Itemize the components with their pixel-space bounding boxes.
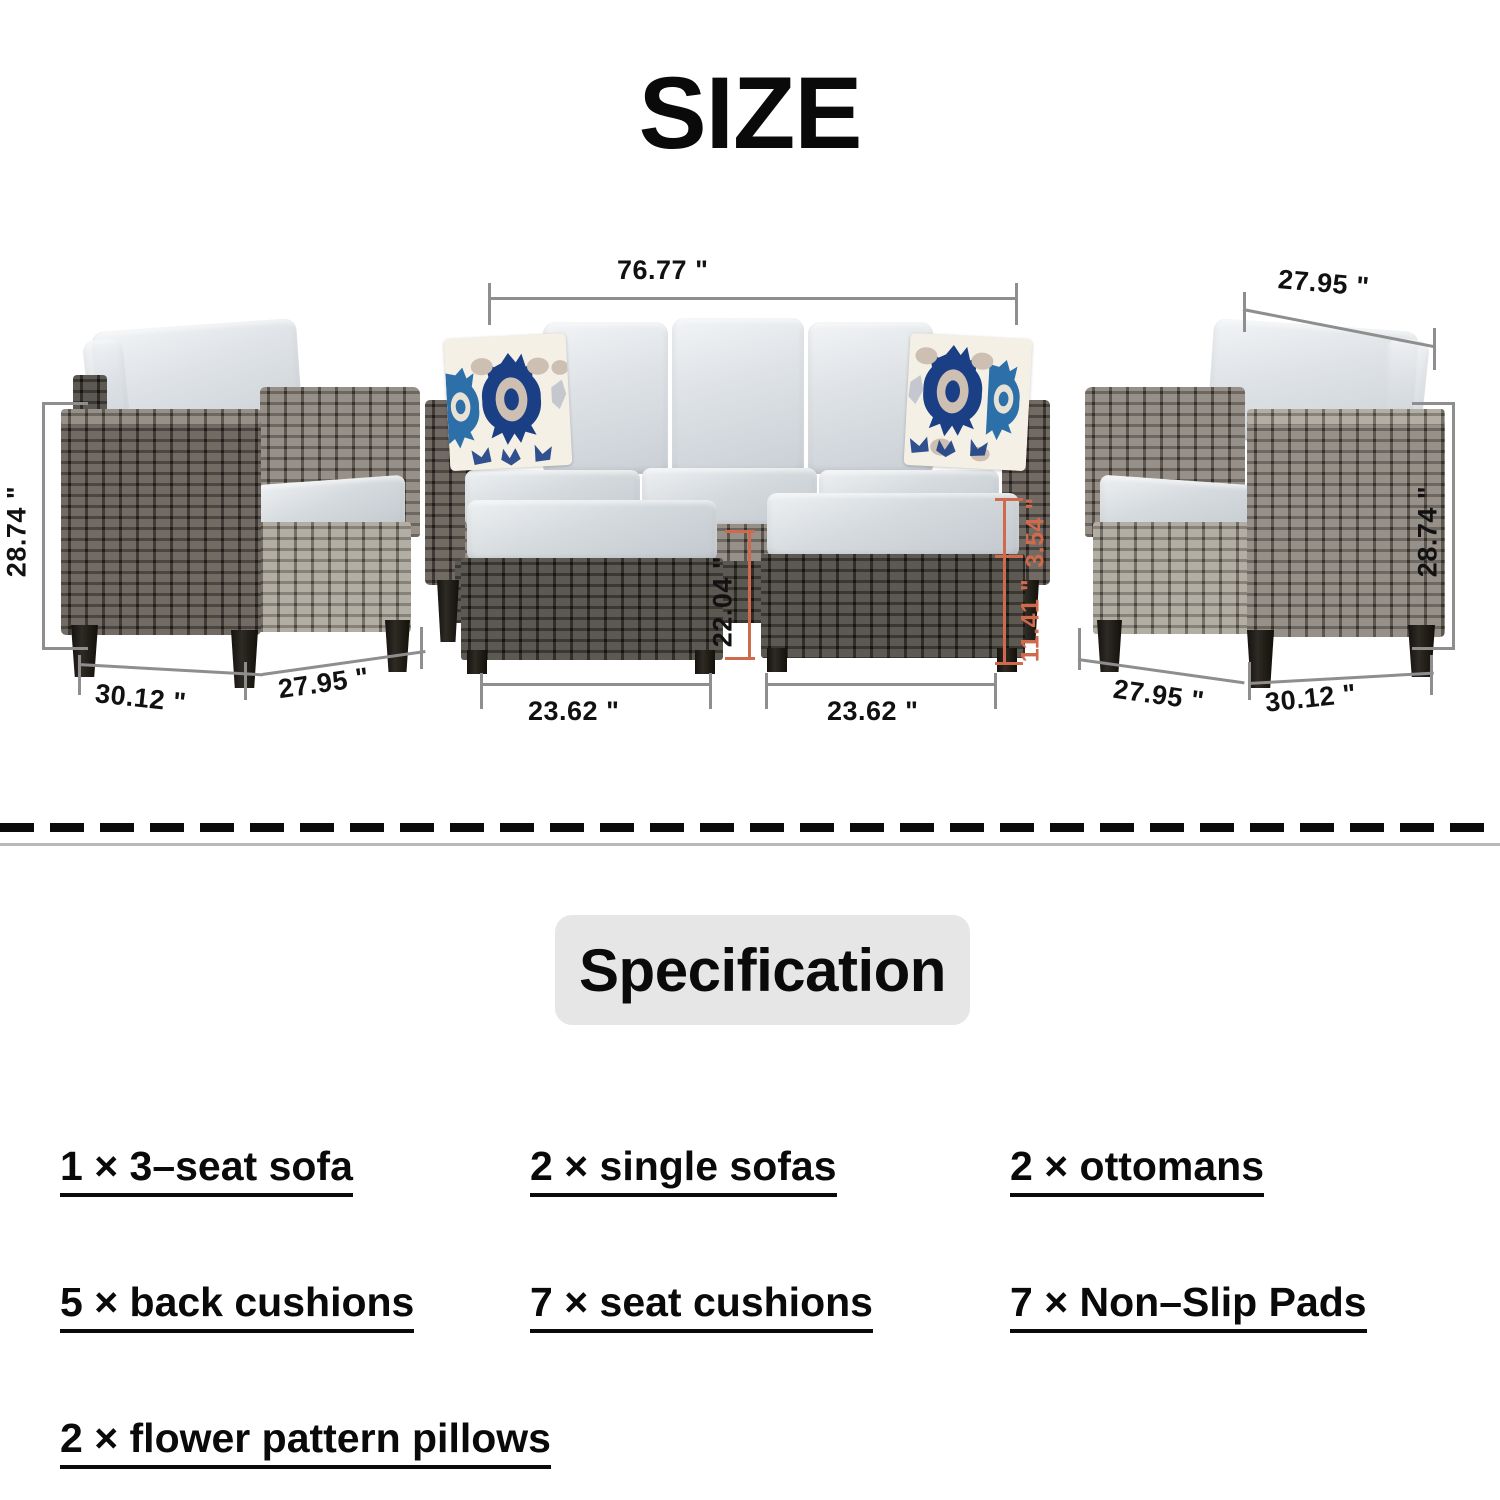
dim-cap-ottoman-left-width-left: [480, 673, 483, 709]
dim-cap-right-chair-depth-left: [1078, 628, 1081, 670]
dim-label-left-chair-width: 30.12 ": [94, 680, 188, 716]
dim-cap-ottoman-right-width-left: [765, 673, 768, 709]
specification-list: 1 × 3–seat sofa 2 × single sofas 2 × ott…: [60, 1145, 1460, 1469]
dim-line-ottoman-base-height: [1003, 555, 1006, 665]
spec-item: 2 × flower pattern pillows: [60, 1417, 530, 1469]
left-chair-seat-front: [253, 522, 411, 632]
dim-label-left-chair-height: 28.74 ": [4, 472, 31, 592]
dim-label-ottoman-height: 22.04 ": [710, 542, 737, 662]
ottoman-left: [455, 500, 725, 675]
right-chair-arm-top: [1247, 409, 1445, 425]
left-chair-arm-top: [61, 409, 261, 425]
spec-item: 1 × 3–seat sofa: [60, 1145, 530, 1197]
spec-item-label: 2 × flower pattern pillows: [60, 1417, 551, 1469]
dim-cap-right-chair-width-right: [1430, 655, 1433, 695]
ottoman-left-leg-left: [467, 650, 487, 674]
dim-cap-sofa-width-right: [1015, 283, 1018, 325]
ottoman-right: [755, 493, 1025, 673]
spec-item: 2 × single sofas: [530, 1145, 1010, 1197]
spec-item: 7 × seat cushions: [530, 1281, 1010, 1333]
dim-cap-left-chair-height-top: [42, 402, 88, 405]
left-chair-leg-front: [71, 625, 98, 677]
furniture-diagram: 28.74 " 30.12 " 27.95 " 76.77 " 23.62 " …: [0, 230, 1500, 790]
spec-item: 5 × back cushions: [60, 1281, 530, 1333]
dim-label-right-chair-depth: 27.95 ": [1112, 676, 1206, 715]
spec-item: 2 × ottomans: [1010, 1145, 1460, 1197]
right-chair-seat-front: [1093, 522, 1255, 634]
dim-label-right-chair-depth-top: 27.95 ": [1277, 266, 1370, 301]
dim-label-ottoman-base-height: 11.41 ": [1019, 556, 1044, 686]
dim-line-cushion-thickness: [1003, 498, 1006, 558]
dim-cap-ottoman-right-width-right: [994, 673, 997, 709]
specification-heading: Specification: [579, 936, 946, 1005]
dim-cap-ottoman-height-top: [725, 530, 755, 533]
dim-line-right-chair-height: [1452, 402, 1455, 650]
dim-cap-left-chair-width-left: [78, 655, 81, 695]
dim-cap-right-chair-depth-top-left: [1243, 292, 1246, 332]
dim-cap-right-chair-height-bottom: [1412, 647, 1455, 650]
flower-pattern-pillow-left: [444, 333, 573, 471]
page-title: SIZE: [0, 62, 1500, 164]
size-specification-page: SIZE: [0, 0, 1500, 1500]
dim-cap-ottoman-left-width-right: [709, 673, 712, 709]
dim-label-ottoman-left-width: 23.62 ": [528, 698, 619, 725]
spec-item: 7 × Non–Slip Pads: [1010, 1281, 1460, 1333]
dim-label-ottoman-right-width: 23.62 ": [827, 698, 918, 725]
ottoman-left-base: [461, 558, 723, 660]
dim-line-sofa-width: [488, 297, 1018, 300]
dim-label-right-chair-width: 30.12 ": [1264, 680, 1358, 716]
sofa-back-cushion-2: [672, 318, 804, 474]
section-divider-solid: [0, 843, 1500, 846]
dim-cap-right-chair-height-top: [1412, 402, 1455, 405]
dim-cap-sofa-width-left: [488, 283, 491, 325]
left-single-sofa: [55, 325, 430, 665]
dim-cap-left-chair-depth-right: [420, 627, 423, 669]
right-chair-leg-mid: [1247, 630, 1274, 688]
flower-pattern-pillow-right: [904, 333, 1033, 471]
ottoman-left-cushion: [467, 500, 717, 562]
dim-cap-left-chair-height-bottom: [42, 647, 88, 650]
ottoman-right-base: [761, 554, 1025, 658]
left-chair-leg-back: [385, 620, 410, 672]
right-single-sofa: [1075, 325, 1450, 670]
section-divider-dashed: [0, 823, 1500, 832]
spec-item-label: 2 × single sofas: [530, 1145, 837, 1197]
spec-item-label: 5 × back cushions: [60, 1281, 414, 1333]
spec-item-label: 7 × seat cushions: [530, 1281, 873, 1333]
spec-item-label: 2 × ottomans: [1010, 1145, 1264, 1197]
dim-label-right-chair-height: 28.74 ": [1415, 472, 1442, 592]
spec-item-label: 7 × Non–Slip Pads: [1010, 1281, 1367, 1333]
spec-item-label: 1 × 3–seat sofa: [60, 1145, 353, 1197]
left-chair-arm-panel: [61, 413, 261, 635]
dim-cap-cushion-thickness-top: [995, 498, 1023, 501]
ottoman-right-cushion: [767, 493, 1019, 558]
dim-cap-right-chair-depth-top-right: [1433, 328, 1436, 370]
ottoman-right-leg-right: [997, 648, 1017, 672]
specification-heading-badge: Specification: [555, 915, 970, 1025]
dim-line-ottoman-left-width: [480, 683, 712, 686]
dim-line-ottoman-height: [748, 530, 751, 660]
dim-line-ottoman-right-width: [765, 683, 997, 686]
ottoman-right-leg-left: [767, 648, 787, 672]
dim-cap-left-chair-width-right: [244, 662, 247, 700]
dim-label-sofa-width: 76.77 ": [617, 257, 708, 284]
dim-cap-right-chair-width-left: [1248, 662, 1251, 700]
dim-line-left-chair-height: [42, 402, 45, 650]
